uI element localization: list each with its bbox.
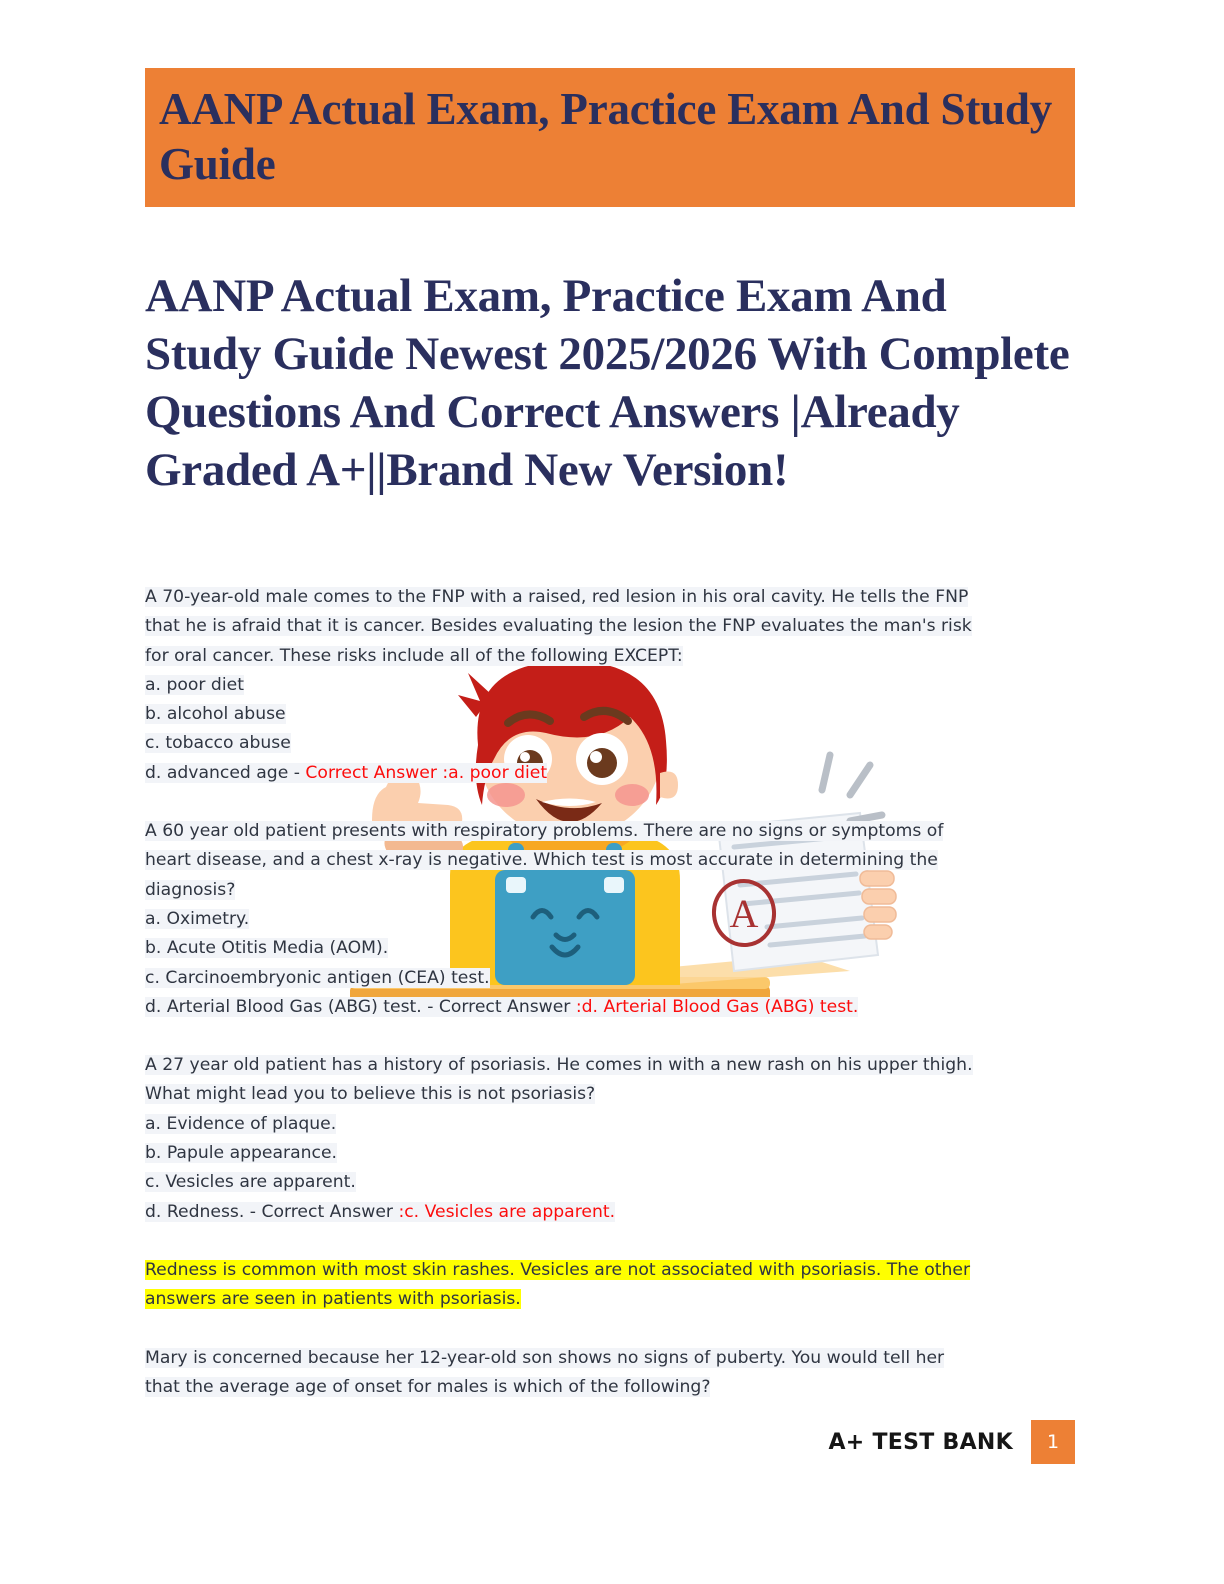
explanation-block: Redness is common with most skin rashes.… [145,1256,1075,1315]
correct-answer: Correct Answer :a. poor diet [305,763,547,783]
option-c: c. Vesicles are apparent. [145,1168,1075,1197]
question-block: A 60 year old patient presents with resp… [145,817,1075,1022]
page-title: AANP Actual Exam, Practice Exam And Stud… [145,267,1070,499]
question-stem-line: What might lead you to believe this is n… [145,1080,1075,1109]
question-stem-line: diagnosis? [145,876,1075,905]
question-stem-line: heart disease, and a chest x-ray is nega… [145,846,1075,875]
explanation-line: Redness is common with most skin rashes.… [145,1256,1075,1285]
title-band: AANP Actual Exam, Practice Exam And Stud… [145,68,1075,207]
option-c: c. tobacco abuse [145,729,1075,758]
question-stem-line: that he is afraid that it is cancer. Bes… [145,612,1075,641]
option-d-with-answer: d. Arterial Blood Gas (ABG) test. - Corr… [145,993,1075,1022]
option-a: a. poor diet [145,671,1075,700]
question-stem-line: that the average age of onset for males … [145,1373,1075,1402]
explanation-line: answers are seen in patients with psoria… [145,1285,1075,1314]
option-a: a. Evidence of plaque. [145,1110,1075,1139]
footer-brand: A+ TEST BANK [828,1420,1031,1464]
correct-answer: :d. Arterial Blood Gas (ABG) test. [576,997,859,1017]
option-d-with-answer: d. advanced age - Correct Answer :a. poo… [145,759,1075,788]
option-d-with-answer: d. Redness. - Correct Answer :c. Vesicle… [145,1198,1075,1227]
question-stem-line: A 27 year old patient has a history of p… [145,1051,1075,1080]
option-a: a. Oximetry. [145,905,1075,934]
page-number-badge: 1 [1031,1420,1075,1464]
title-band-text: AANP Actual Exam, Practice Exam And Stud… [159,82,1075,192]
option-b: b. alcohol abuse [145,700,1075,729]
question-block: Mary is concerned because her 12-year-ol… [145,1344,1075,1403]
correct-answer: :c. Vesicles are apparent. [398,1202,615,1222]
question-stem-line: A 70-year-old male comes to the FNP with… [145,583,1075,612]
page-footer: A+ TEST BANK 1 [145,1420,1075,1464]
option-c: c. Carcinoembryonic antigen (CEA) test. [145,964,1075,993]
document-page: AANP Actual Exam, Practice Exam And Stud… [0,0,1224,1584]
question-stem-line: for oral cancer. These risks include all… [145,642,1075,671]
question-block: A 27 year old patient has a history of p… [145,1051,1075,1227]
question-block: A 70-year-old male comes to the FNP with… [145,583,1075,788]
option-b: b. Papule appearance. [145,1139,1075,1168]
question-stem-line: Mary is concerned because her 12-year-ol… [145,1344,1075,1373]
document-body: A 70-year-old male comes to the FNP with… [145,583,1075,1402]
option-b: b. Acute Otitis Media (AOM). [145,934,1075,963]
question-stem-line: A 60 year old patient presents with resp… [145,817,1075,846]
